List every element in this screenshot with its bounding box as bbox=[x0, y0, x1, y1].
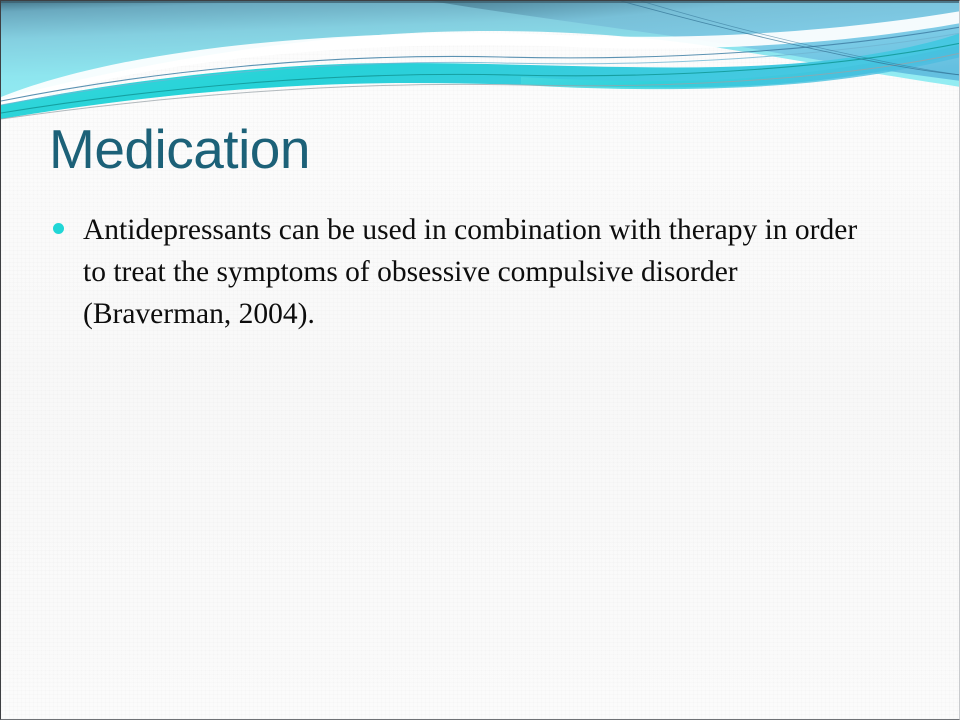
bullet-text: Antidepressants can be used in combinati… bbox=[83, 209, 883, 335]
bullet-dot-icon bbox=[53, 223, 64, 234]
slide-canvas: Medication Antidepressants can be used i… bbox=[0, 0, 960, 720]
page-title: Medication bbox=[49, 118, 909, 180]
title-placeholder: Medication bbox=[49, 118, 909, 180]
flow-wave-header-graphic bbox=[1, 1, 960, 131]
content-placeholder: Antidepressants can be used in combinati… bbox=[53, 209, 883, 335]
list-item: Antidepressants can be used in combinati… bbox=[53, 209, 883, 335]
